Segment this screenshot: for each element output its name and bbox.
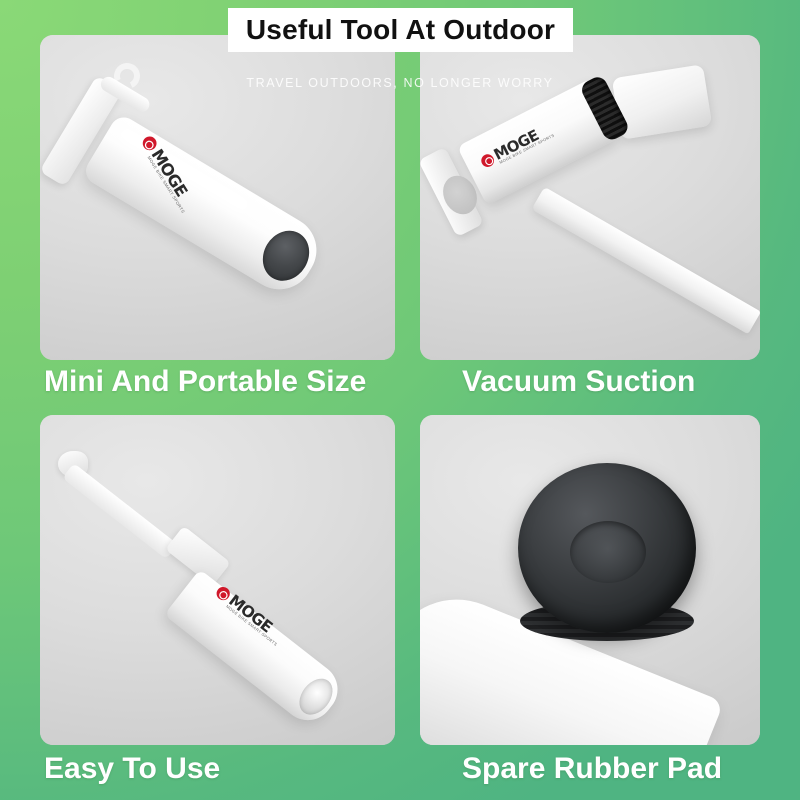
title-banner: Useful Tool At Outdoor [228, 8, 573, 52]
page-title: Useful Tool At Outdoor [246, 14, 555, 46]
feature-panel-spare-rubber-pad[interactable] [420, 415, 760, 745]
spare-rubber-pad [518, 463, 696, 633]
panel-caption-spare-rubber-pad: Spare Rubber Pad [462, 752, 722, 786]
page-subtitle: TRAVEL OUTDOORS, NO LONGER WORRY [0, 76, 800, 90]
photo-backdrop [40, 415, 395, 745]
panel-caption-mini-portable: Mini And Portable Size [44, 365, 366, 399]
panel-caption-easy-to-use: Easy To Use [44, 752, 220, 786]
panel-caption-vacuum-suction: Vacuum Suction [462, 365, 695, 399]
product-poster: Useful Tool At Outdoor TRAVEL OUTDOORS, … [0, 0, 800, 800]
feature-panel-easy-to-use[interactable]: MOGE MOGE BIKE SMART SPORTS [40, 415, 395, 745]
